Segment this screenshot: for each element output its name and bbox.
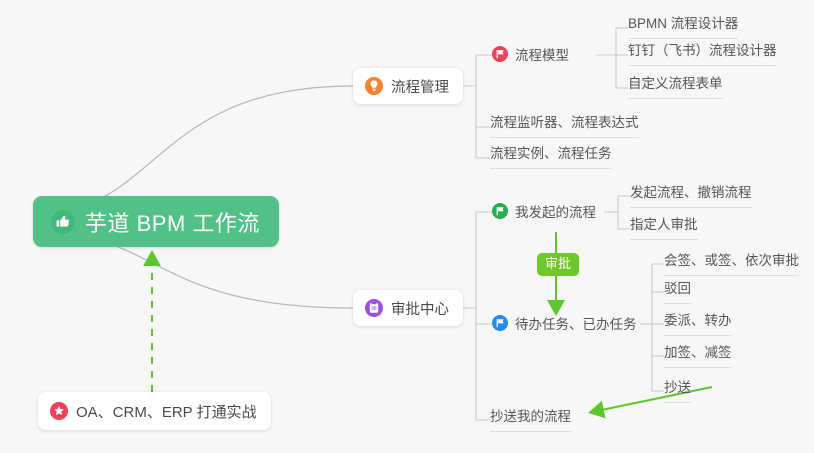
node-approval-center[interactable]: 审批中心 [353, 290, 463, 326]
flag-icon [492, 46, 508, 62]
node-label: 我发起的流程 [515, 201, 596, 221]
node-process-model[interactable]: 流程模型 [492, 43, 569, 65]
leaf-cc-to-me-processes[interactable]: 抄送我的流程 [490, 405, 571, 432]
flag-icon [492, 203, 508, 219]
node-my-started-processes[interactable]: 我发起的流程 [492, 200, 596, 222]
node-todo-done-tasks[interactable]: 待办任务、已办任务 [492, 312, 637, 334]
node-label: 流程模型 [515, 44, 569, 64]
star-icon [50, 402, 68, 420]
node-process-management[interactable]: 流程管理 [353, 68, 463, 104]
node-label: 审批中心 [391, 298, 449, 319]
flag-icon [492, 315, 508, 331]
mindmap-canvas: 芋道 BPM 工作流 流程管理 流程模型 BPMN 流程设计器 钉钉（飞书）流程… [0, 0, 814, 453]
thumbs-up-icon [51, 210, 75, 234]
leaf-custom-process-form[interactable]: 自定义流程表单 [628, 72, 723, 99]
leaf-delegate-transfer[interactable]: 委派、转办 [664, 309, 732, 336]
leaf-process-listener-expression[interactable]: 流程监听器、流程表达式 [490, 111, 639, 138]
node-label: OA、CRM、ERP 打通实战 [76, 401, 257, 422]
leaf-bpmn-designer[interactable]: BPMN 流程设计器 [628, 12, 738, 39]
leaf-dingtalk-feishu-designer[interactable]: 钉钉（飞书）流程设计器 [628, 39, 777, 66]
leaf-countersign-orsign-sequential[interactable]: 会签、或签、依次审批 [664, 249, 799, 276]
node-oa-crm-erp-integration[interactable]: OA、CRM、ERP 打通实战 [38, 392, 271, 430]
clipboard-icon [365, 299, 383, 317]
lightbulb-icon [365, 77, 383, 95]
leaf-carbon-copy[interactable]: 抄送 [664, 376, 691, 403]
root-node[interactable]: 芋道 BPM 工作流 [33, 196, 279, 247]
root-label: 芋道 BPM 工作流 [85, 206, 260, 238]
leaf-process-instance-task[interactable]: 流程实例、流程任务 [490, 142, 612, 169]
leaf-reject[interactable]: 驳回 [664, 277, 691, 304]
node-label: 待办任务、已办任务 [515, 313, 637, 333]
leaf-start-cancel-process[interactable]: 发起流程、撤销流程 [630, 181, 752, 208]
node-label: 流程管理 [391, 76, 449, 97]
approval-annotation-chip: 审批 [537, 253, 579, 276]
leaf-assignee-approval[interactable]: 指定人审批 [630, 213, 698, 240]
leaf-add-remove-sign[interactable]: 加签、减签 [664, 341, 732, 368]
